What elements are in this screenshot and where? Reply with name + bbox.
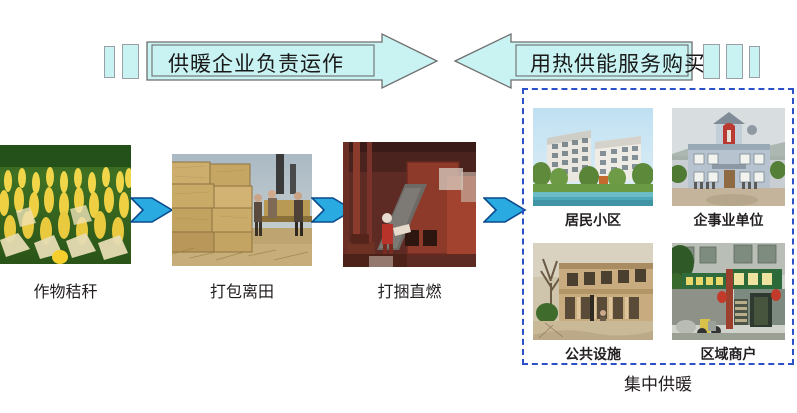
step-caption-3: 打捆直燃 — [343, 278, 476, 302]
residential-apartments-photo — [533, 108, 653, 206]
step-caption-1: 作物秸秆 — [0, 278, 131, 302]
consumer-caption-1: 居民小区 — [533, 210, 653, 230]
central-heating-group-caption: 集中供暖 — [522, 370, 794, 395]
biomass-boiler-photo — [343, 142, 476, 267]
corn-field-photo — [0, 145, 131, 264]
straw-bales-photo — [172, 154, 312, 266]
consumer-caption-3: 公共设施 — [533, 344, 653, 364]
banner-right-tick-3 — [749, 46, 760, 78]
banner-right-label: 用热供能服务购买 — [530, 48, 706, 78]
banner-left-tick-1 — [104, 46, 115, 78]
banner-left-label: 供暖企业负责运作 — [168, 48, 344, 78]
institution-building-photo — [672, 108, 785, 206]
step-caption-2: 打包离田 — [172, 278, 312, 302]
banner-right-tick-2 — [726, 44, 743, 79]
flow-arrow-1 — [130, 192, 174, 228]
banner-right-tick-1 — [703, 44, 720, 79]
local-shops-photo — [672, 243, 785, 340]
banner-left-tick-2 — [122, 44, 139, 79]
flow-arrow-3 — [483, 192, 527, 228]
consumer-caption-4: 区域商户 — [672, 344, 785, 364]
consumer-caption-2: 企事业单位 — [672, 210, 785, 230]
public-facility-photo — [533, 243, 653, 340]
diagram-canvas: 供暖企业负责运作 用热供能服务购买 — [0, 0, 797, 413]
